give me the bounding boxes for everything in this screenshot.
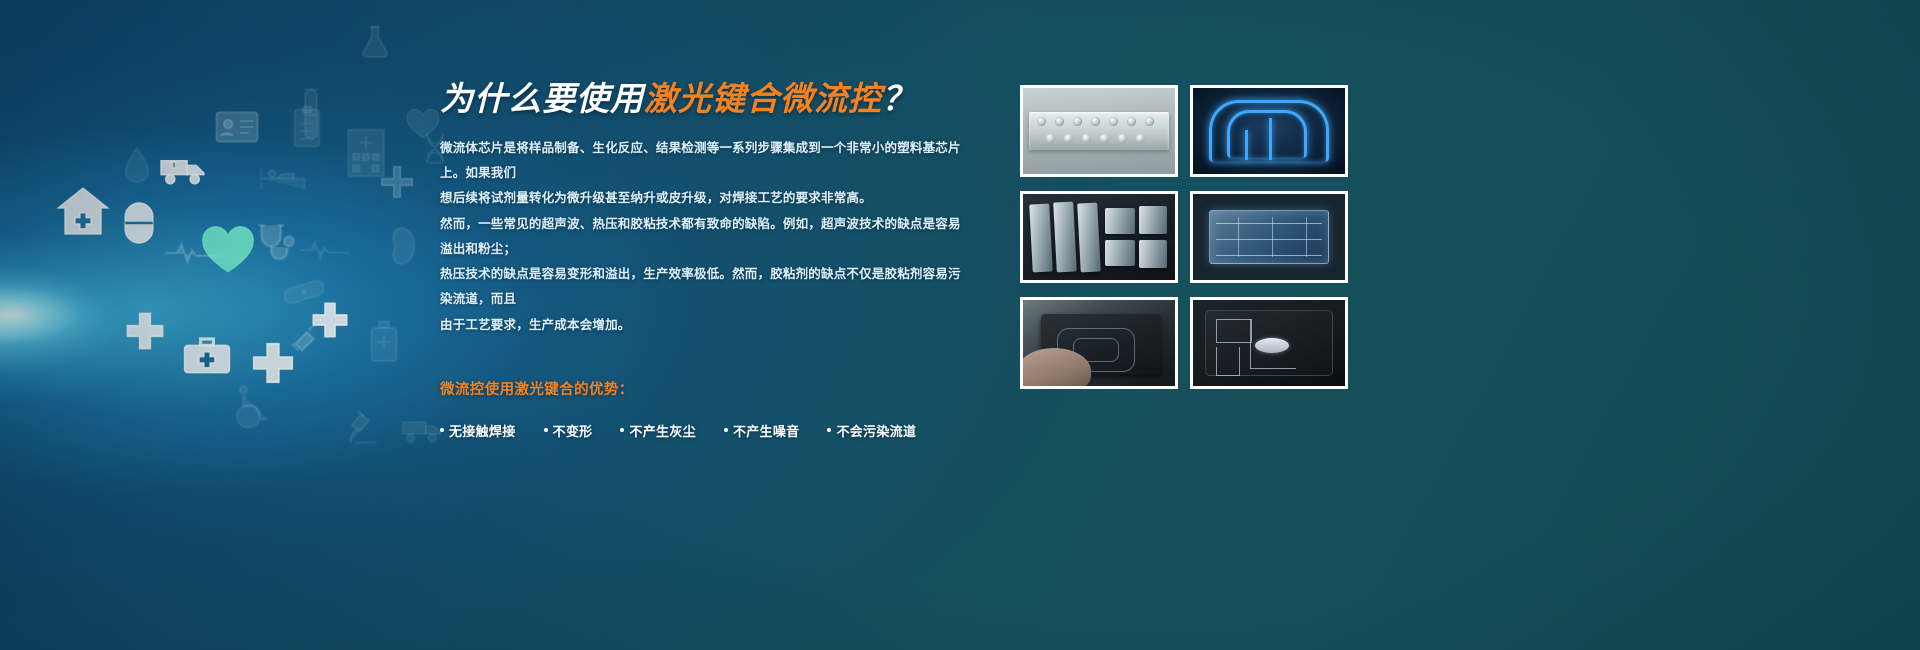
chip-port-icon	[1109, 117, 1118, 126]
chip-slab	[1139, 206, 1167, 234]
promo-banner: 为什么要使用激光键合微流控？ 微流体芯片是将样品制备、生化反应、结果检测等一系列…	[0, 0, 1920, 650]
chip-port-icon	[1037, 117, 1046, 126]
list-item-label: 不产生噪音	[733, 421, 800, 440]
product-photo-gallery	[1020, 85, 1348, 389]
chip-port-icon	[1082, 134, 1091, 143]
stethoscope-icon	[253, 222, 299, 264]
flask-icon	[355, 18, 395, 66]
clear-plastic-chip-array-photo[interactable]	[1020, 191, 1178, 283]
chip-slab	[1139, 240, 1167, 268]
chip-port-icon	[1055, 117, 1064, 126]
chip-slab	[1105, 240, 1135, 266]
channel-stem	[1269, 118, 1272, 160]
reaction-chamber	[1255, 338, 1289, 353]
list-item-label: 不产生灰尘	[629, 421, 696, 440]
light-beam-glow	[0, 170, 500, 470]
paragraph-line: 由于工艺要求，生产成本会增加。	[440, 313, 970, 338]
channel-segment	[1250, 368, 1296, 370]
channel-line	[1238, 217, 1239, 257]
paragraph-line: 热压技术的缺点是容易变形和溢出，生产效率极低。然而，胶粘剂的缺点不仅是胶粘剂容易…	[440, 262, 970, 313]
headline-suffix: ？	[882, 80, 916, 117]
channel-segment	[1216, 319, 1252, 343]
chip-port-icon	[1073, 117, 1082, 126]
chip-port-icon	[1064, 134, 1073, 143]
id-card-icon	[215, 110, 259, 144]
bullet-dot-icon	[620, 428, 624, 432]
capsule-pill-icon	[118, 200, 160, 246]
wheelchair-icon	[228, 385, 272, 431]
chip-port-icon	[1046, 134, 1055, 143]
photo-surface	[1023, 88, 1175, 174]
chip-slab	[1105, 208, 1135, 234]
chip-port-icon	[1136, 134, 1145, 143]
bullet-dot-icon	[724, 428, 728, 432]
black-cartridge-channel-photo[interactable]	[1190, 297, 1348, 389]
serpentine-channel-glowing-chip-photo[interactable]	[1190, 85, 1348, 177]
bullet-dot-icon	[827, 428, 831, 432]
paragraph-line: 然而，一些常见的超声波、热压和胶粘技术都有致命的缺陷。例如，超声波技术的缺点是容…	[440, 212, 970, 263]
light-beam-core	[0, 255, 220, 375]
chip-port-icon	[1127, 117, 1136, 126]
channel-segment	[1216, 347, 1240, 376]
heart-pulse-icon	[200, 225, 256, 275]
chip-port-icon	[1118, 134, 1127, 143]
hospital-bed-icon	[258, 160, 308, 194]
medical-cross-icon	[310, 300, 350, 340]
cartridge-plate	[1205, 310, 1333, 376]
headline-prefix: 为什么要使用	[440, 80, 644, 117]
clipboard-icon	[290, 105, 324, 151]
medical-cross-icon	[250, 340, 296, 386]
channel-line	[1272, 217, 1273, 257]
channel-line	[1306, 217, 1307, 257]
list-item-label: 不会污染流道	[836, 421, 916, 440]
headline-accent: 激光键合微流控	[644, 80, 882, 117]
list-item: 不产生灰尘	[620, 421, 696, 440]
chip-slab	[1053, 202, 1077, 273]
intro-paragraph: 微流体芯片是将样品制备、生化反应、结果检测等一系列步骤集成到一个非常小的塑料基芯…	[440, 136, 970, 338]
microfluidic-chip-strip-photo[interactable]	[1020, 85, 1178, 177]
photo-surface	[1193, 88, 1345, 174]
list-item: 不变形	[544, 421, 593, 440]
plus-cross-icon	[380, 165, 414, 199]
paragraph-line: 想后续将试剂量转化为微升级甚至纳升或皮升级，对焊接工艺的要求非常高。	[440, 186, 970, 211]
banner-content: 为什么要使用激光键合微流控？ 微流体芯片是将样品制备、生化反应、结果检测等一系列…	[440, 80, 970, 456]
photo-surface	[1023, 300, 1175, 386]
list-item: 不产生噪音	[724, 421, 800, 440]
manifold-block	[1209, 210, 1329, 264]
chip-slab	[1077, 203, 1101, 273]
chip-slab	[1029, 204, 1053, 273]
photo-surface	[1023, 194, 1175, 280]
hospital-building-icon	[345, 120, 387, 178]
ecg-line-icon	[165, 240, 225, 266]
list-item-label: 不变形	[553, 421, 593, 440]
paragraph-line: 微流体芯片是将样品制备、生化反应、结果检测等一系列步骤集成到一个非常小的塑料基芯…	[440, 136, 970, 187]
chip-port-icon	[1145, 117, 1154, 126]
chip-port-icon	[1100, 134, 1109, 143]
test-tube-icon	[298, 85, 324, 145]
ecg-line-icon	[300, 238, 354, 262]
list-item: 不会污染流道	[827, 421, 916, 440]
first-aid-kit-icon	[183, 335, 231, 375]
ambulance-icon	[158, 152, 210, 188]
heart-pulse-icon	[405, 108, 441, 140]
black-chip-in-hand-photo[interactable]	[1020, 297, 1178, 389]
photo-surface	[1193, 194, 1345, 280]
battery-icon	[365, 320, 403, 364]
chip-port-icon	[1091, 117, 1100, 126]
home-plus-icon	[55, 185, 111, 237]
channel-stem	[1245, 130, 1248, 160]
advantages-list: 无接触焊接 不变形 不产生灰尘 不产生噪音 不会污染流道	[440, 421, 970, 440]
blood-drop-icon	[120, 145, 154, 187]
syringe-icon	[285, 310, 329, 354]
list-item: 无接触焊接	[440, 421, 516, 440]
advantages-subheading: 微流控使用激光键合的优势：	[440, 378, 970, 399]
bullet-dot-icon	[440, 428, 444, 432]
serpentine-channel-inner	[1227, 110, 1307, 158]
page-title: 为什么要使用激光键合微流控？	[440, 80, 970, 118]
medical-cross-icon	[124, 310, 166, 352]
blue-transparent-manifold-photo[interactable]	[1190, 191, 1348, 283]
kidney-icon	[378, 225, 418, 267]
fingertip	[1020, 348, 1091, 389]
channel-segment	[1250, 319, 1252, 369]
microscope-icon	[340, 408, 382, 452]
photo-surface	[1193, 300, 1345, 386]
list-item-label: 无接触焊接	[449, 421, 516, 440]
bandage-icon	[282, 278, 326, 306]
bullet-dot-icon	[544, 428, 548, 432]
